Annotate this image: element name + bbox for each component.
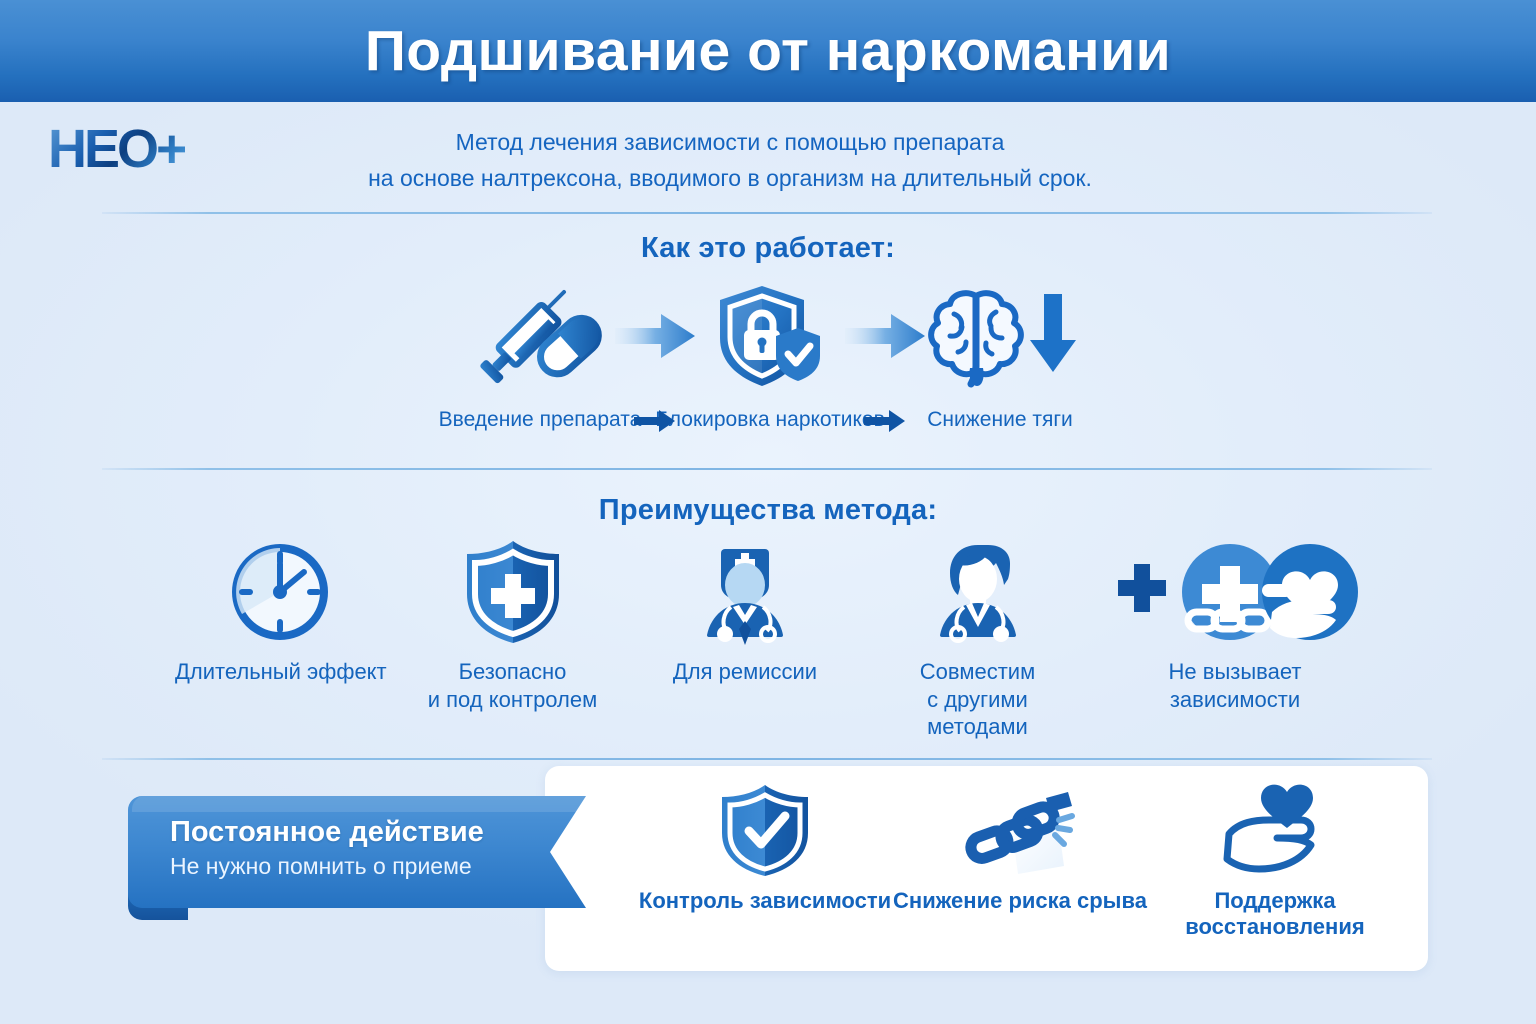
benefit-item-4-label: Совместим с другими методами [920, 658, 1035, 741]
how-step-1-label: Введение препарата [439, 408, 642, 432]
step-arrow-2-icon [843, 280, 927, 392]
how-step-2-label: Блокировка наркотиков [655, 408, 885, 432]
shield-check-icon [717, 782, 813, 878]
doctor-icon [691, 540, 799, 644]
benefit-item-5-label: Не вызывает зависимости [1169, 658, 1302, 713]
benefit-item-5: Не вызывает зависимости [1110, 540, 1360, 713]
benefit-item-2: Безопасно и под контролем [413, 540, 613, 713]
benefits-row: Длительный эффект [180, 540, 1360, 740]
heart-in-hand-icon [1219, 782, 1331, 878]
how-it-works-row: Введение препарата [330, 280, 1210, 450]
ribbon-subtitle: Не нужно помнить о приеме [170, 853, 590, 881]
bottom-results-row: Контроль зависимости [640, 782, 1400, 957]
bottom-results-card: Контроль зависимости [545, 766, 1428, 971]
bottom-item-2-label: Снижение риска срыва [893, 888, 1147, 914]
brain-down-arrow-icon [920, 280, 1080, 392]
benefits-heading: Преимущества метода: [0, 494, 1536, 527]
bottom-item-1-label: Контроль зависимости [639, 888, 891, 914]
section-divider-middle [102, 468, 1432, 470]
intro-text: Метод лечения зависимости с помощью преп… [280, 125, 1180, 196]
benefit-item-3-label: Для ремиссии [673, 658, 817, 686]
nurse-icon [924, 540, 1032, 644]
section-divider-bottom [102, 758, 1432, 760]
page-title: Подшивание от наркомании [365, 23, 1171, 80]
intro-line-1: Метод лечения зависимости с помощью преп… [280, 125, 1180, 161]
section-divider-top [102, 212, 1432, 214]
step-small-arrow-2-icon [863, 408, 907, 434]
ribbon-title: Постоянное действие [170, 816, 590, 849]
intro-line-2: на основе налтрексона, вводимого в орган… [280, 161, 1180, 197]
how-it-works-heading: Как это работает: [0, 232, 1536, 265]
benefit-item-3: Для ремиссии [645, 540, 845, 686]
benefit-item-2-label: Безопасно и под контролем [428, 658, 598, 713]
permanent-action-ribbon: Постоянное действие Не нужно помнить о п… [120, 790, 640, 925]
plus-chain-heart-hand-icon [1110, 540, 1360, 644]
step-small-arrow-1-icon [633, 408, 677, 434]
broken-chain-icon [960, 782, 1080, 878]
infographic-page: Подшивание от наркомании НЕО+ Метод лече… [0, 0, 1536, 1024]
bottom-item-2: Снижение риска срыва [895, 782, 1145, 914]
how-step-3-label: Снижение тяги [927, 408, 1072, 432]
brand-logo: НЕО+ [48, 118, 238, 180]
header-banner: Подшивание от наркомании [0, 0, 1536, 102]
benefit-item-1: Длительный эффект [180, 540, 380, 686]
bottom-item-1: Контроль зависимости [640, 782, 890, 914]
shield-cross-icon [463, 540, 563, 644]
benefit-item-4: Совместим с другими методами [878, 540, 1078, 741]
benefit-item-1-label: Длительный эффект [175, 658, 385, 686]
step-arrow-1-icon [613, 280, 697, 392]
ribbon-text-block: Постоянное действие Не нужно помнить о п… [170, 816, 590, 881]
bottom-item-3-label: Поддержка восстановления [1185, 888, 1364, 941]
shield-lock-check-icon [708, 280, 832, 392]
bottom-item-3: Поддержка восстановления [1150, 782, 1400, 941]
brand-logo-text: НЕО+ [48, 122, 185, 176]
syringe-pill-icon [478, 280, 602, 392]
clock-icon [228, 540, 332, 644]
